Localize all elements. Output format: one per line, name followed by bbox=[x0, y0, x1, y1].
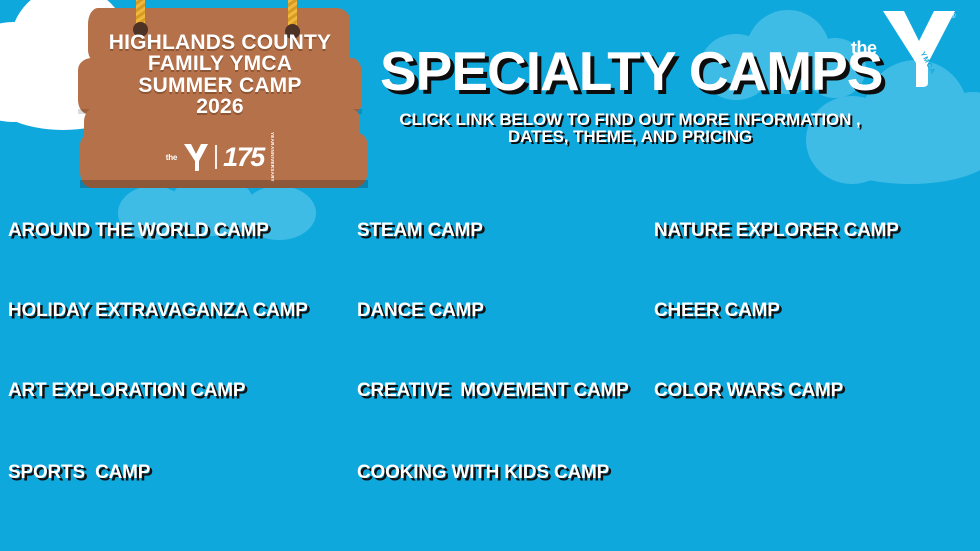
camp-link-around-the-world[interactable]: AROUND THE WORLD CAMP bbox=[8, 221, 269, 240]
camp-link-nature-explorer[interactable]: NATURE EXPLORER CAMP bbox=[654, 221, 899, 240]
ymca-logo: the ® YMCA bbox=[851, 6, 971, 90]
ymca-the-label: the bbox=[166, 153, 177, 162]
anniversary-word-label: ANNIVERSARY bbox=[270, 146, 275, 182]
camp-link-sports[interactable]: SPORTS CAMP bbox=[8, 463, 150, 482]
page-subtitle: CLICK LINK BELOW TO FIND OUT MORE INFORM… bbox=[380, 111, 880, 146]
registered-trademark-icon: ® bbox=[950, 13, 955, 20]
sign-line-2: FAMILY YMCA bbox=[70, 53, 370, 74]
camp-link-color-wars[interactable]: COLOR WARS CAMP bbox=[654, 381, 843, 400]
camp-link-creative-movement[interactable]: CREATIVE MOVEMENT CAMP bbox=[357, 381, 629, 400]
wooden-sign: HIGHLANDS COUNTY FAMILY YMCA SUMMER CAMP… bbox=[70, 0, 370, 196]
camp-link-cooking-with-kids[interactable]: COOKING WITH KIDS CAMP bbox=[357, 463, 609, 482]
anniversary-number: 175 bbox=[223, 142, 264, 173]
camp-link-art-exploration[interactable]: ART EXPLORATION CAMP bbox=[8, 381, 245, 400]
page-title: SPECIALTY CAMPS bbox=[380, 44, 880, 99]
camp-link-dance[interactable]: DANCE CAMP bbox=[357, 301, 484, 320]
ymca-divider bbox=[215, 145, 217, 169]
anniversary-vertical-labels: YEAR ANNIVERSARY bbox=[270, 144, 275, 170]
camp-link-steam[interactable]: STEAM CAMP bbox=[357, 221, 483, 240]
sign-title-block: HIGHLANDS COUNTY FAMILY YMCA SUMMER CAMP… bbox=[70, 32, 370, 118]
headline-block: SPECIALTY CAMPS CLICK LINK BELOW TO FIND… bbox=[380, 44, 880, 146]
ymca-logo-y-holder: ® YMCA bbox=[880, 7, 958, 89]
anniversary-year-label: YEAR bbox=[270, 132, 275, 146]
sign-line-4: 2026 bbox=[70, 96, 370, 117]
specialty-camps-flyer: HIGHLANDS COUNTY FAMILY YMCA SUMMER CAMP… bbox=[0, 0, 980, 551]
sign-line-3: SUMMER CAMP bbox=[70, 75, 370, 96]
ymca-logo-the-label: the bbox=[851, 38, 877, 59]
ymca-175-anniversary-logo: the 175 YEAR ANNIVERSARY bbox=[70, 140, 370, 174]
camp-link-cheer[interactable]: CHEER CAMP bbox=[654, 301, 780, 320]
ymca-y-icon bbox=[880, 7, 958, 89]
sign-line-1: HIGHLANDS COUNTY bbox=[70, 32, 370, 53]
ymca-y-icon bbox=[183, 142, 209, 172]
camp-list-grid: AROUND THE WORLD CAMP HOLIDAY EXTRAVAGAN… bbox=[0, 205, 980, 505]
camp-link-holiday-extravaganza[interactable]: HOLIDAY EXTRAVAGANZA CAMP bbox=[8, 301, 308, 320]
